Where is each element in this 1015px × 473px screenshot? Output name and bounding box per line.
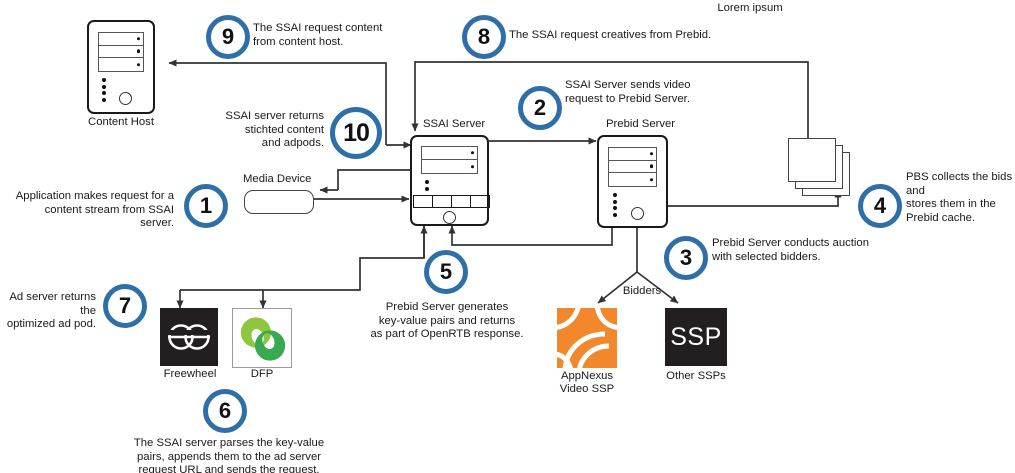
- ssai-server-power-icon: [443, 211, 456, 224]
- ssp-logo-text: SSP: [670, 323, 722, 352]
- step-text-10: SSAI server returns stichted content and…: [188, 110, 324, 151]
- step-number: 5: [440, 259, 452, 285]
- ssai-server-drive-bays: [421, 146, 478, 174]
- drive-bay: [99, 33, 143, 46]
- drive-bay: [609, 173, 656, 186]
- step-text-8: The SSAI request creatives from Prebid.: [509, 29, 789, 43]
- node-label-media-device: Media Device: [243, 173, 363, 186]
- node-label-content-host: Content Host: [66, 116, 176, 129]
- step-number: 4: [874, 193, 886, 219]
- step-circle-7[interactable]: 7: [103, 284, 147, 328]
- content-host-power-icon: [119, 92, 132, 105]
- node-media-device[interactable]: [244, 190, 314, 214]
- node-ssai-server[interactable]: [410, 135, 489, 226]
- step-number: 1: [200, 193, 212, 219]
- node-prebid-server[interactable]: [597, 135, 668, 228]
- step-text-5: Prebid Server generates key-value pairs …: [357, 301, 537, 342]
- step-circle-4[interactable]: 4: [858, 184, 902, 228]
- step-circle-10[interactable]: 10: [330, 107, 382, 159]
- step-circle-1[interactable]: 1: [184, 184, 228, 228]
- node-other-ssps-logo[interactable]: SSP: [665, 308, 727, 366]
- drive-bay: [609, 161, 656, 174]
- drive-bay: [422, 147, 477, 160]
- step-text-2: SSAI Server sends video request to Prebi…: [565, 79, 755, 106]
- prebid-server-status-dots: [613, 193, 617, 217]
- node-freewheel-logo[interactable]: [160, 308, 218, 366]
- step-number: 2: [534, 95, 546, 121]
- appnexus-arcs-icon: [557, 308, 617, 368]
- prebid-server-drive-bays: [608, 147, 657, 187]
- edge-label-bidders: Bidders: [614, 285, 670, 298]
- step-circle-5[interactable]: 5: [424, 250, 468, 294]
- node-label-appnexus: AppNexus Video SSP: [537, 370, 637, 396]
- node-label-freewheel: Freewheel: [150, 368, 230, 381]
- step-text-1: Application makes request for a content …: [8, 190, 174, 231]
- node-appnexus-logo[interactable]: [557, 308, 617, 368]
- node-label-prebid-server: Prebid Server: [606, 118, 736, 131]
- step-number: 6: [219, 398, 231, 424]
- content-host-drive-bays: [98, 32, 144, 72]
- prebid-server-power-icon: [631, 207, 644, 220]
- step-circle-6[interactable]: 6: [203, 389, 247, 433]
- step-number: 7: [119, 293, 131, 319]
- page-title: Lorem ipsum: [660, 2, 840, 16]
- step-circle-9[interactable]: 9: [206, 15, 250, 59]
- step-text-7: Ad server returns the optimized ad pod.: [0, 291, 96, 332]
- content-host-status-dots: [102, 78, 106, 102]
- step-text-4: PBS collects the bids and stores them in…: [906, 171, 1015, 225]
- diagram-canvas: Lorem ipsum Content Host Media Device SS…: [0, 0, 1015, 473]
- step-circle-3[interactable]: 3: [664, 236, 708, 280]
- node-prebid-cache[interactable]: [788, 138, 858, 200]
- step-text-6: The SSAI server parses the key-value pai…: [126, 437, 332, 473]
- step-text-9: The SSAI request content from content ho…: [253, 22, 433, 49]
- node-label-other-ssps: Other SSPs: [650, 370, 742, 383]
- dfp-rings-icon: [234, 310, 292, 368]
- node-content-host[interactable]: [87, 20, 155, 114]
- node-label-dfp: DFP: [222, 368, 302, 381]
- ssai-server-ports: [413, 195, 490, 208]
- step-number: 8: [478, 24, 490, 50]
- step-number: 3: [680, 245, 692, 271]
- ssai-server-status-dots: [425, 180, 429, 191]
- drive-bay: [422, 160, 477, 173]
- step-text-3: Prebid Server conducts auction with sele…: [712, 237, 922, 264]
- drive-bay: [99, 46, 143, 59]
- node-dfp-logo[interactable]: [232, 308, 292, 368]
- step-circle-8[interactable]: 8: [462, 15, 506, 59]
- cache-sheet-front: [788, 138, 836, 182]
- freewheel-glyph-icon: [160, 308, 218, 366]
- step-number: 10: [343, 119, 369, 148]
- step-circle-2[interactable]: 2: [518, 86, 562, 130]
- drive-bay: [99, 58, 143, 71]
- step-number: 9: [222, 24, 234, 50]
- drive-bay: [609, 148, 656, 161]
